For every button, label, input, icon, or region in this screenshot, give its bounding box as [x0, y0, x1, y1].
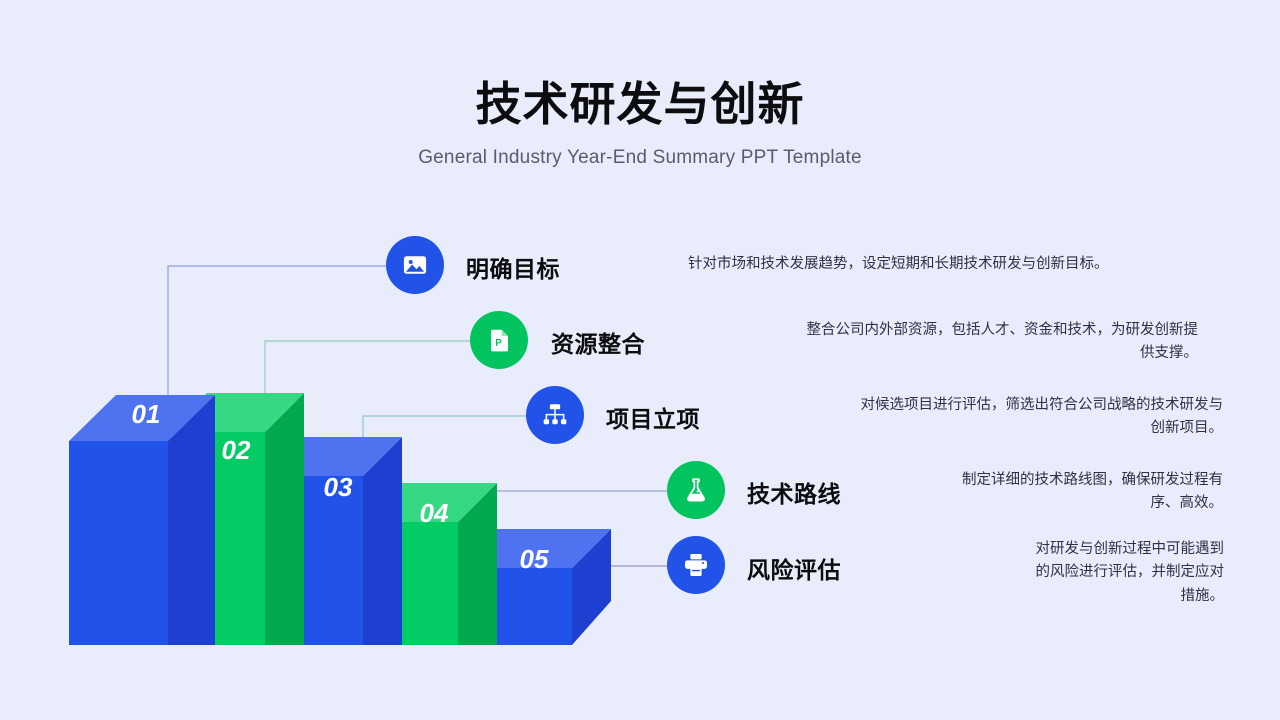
step-2-icon-badge[interactable]: P [470, 311, 528, 369]
flask-icon [682, 476, 710, 504]
step-3-description: 对候选项目进行评估，筛选出符合公司战略的技术研发与创新项目。 [848, 394, 1223, 441]
step-4-icon-badge[interactable] [667, 461, 725, 519]
step-2-description: 整合公司内外部资源，包括人才、资金和技术，为研发创新提供支撑。 [798, 319, 1198, 366]
block-05-number: 05 [520, 544, 549, 574]
step-2-label: 资源整合 [551, 325, 645, 359]
slide-canvas: 技术研发与创新 General Industry Year-End Summar… [0, 0, 1280, 720]
block-01-front [69, 441, 168, 645]
step-3-icon-badge[interactable] [526, 386, 584, 444]
step-4-label: 技术路线 [747, 475, 841, 509]
block-04-number: 04 [420, 498, 449, 528]
svg-text:P: P [495, 338, 502, 349]
sitemap-icon [541, 401, 569, 429]
step-5-label: 风险评估 [747, 551, 841, 585]
step-3-label: 项目立项 [606, 400, 700, 434]
block-02-side [265, 393, 304, 645]
step-5-icon-badge[interactable] [667, 536, 725, 594]
step-5-description: 对研发与创新过程中可能遇到的风险进行评估，并制定应对措施。 [1028, 538, 1224, 608]
step-1-label: 明确目标 [466, 250, 560, 284]
block-02-number: 02 [222, 435, 251, 465]
block-03-number: 03 [324, 472, 353, 502]
step-1-icon-badge[interactable] [386, 236, 444, 294]
step-block-01[interactable]: 01 [69, 395, 215, 645]
step-1-description: 针对市场和技术发展趋势，设定短期和长期技术研发与创新目标。 [688, 253, 1228, 276]
ppt-file-icon: P [485, 326, 513, 354]
printer-icon [682, 551, 710, 579]
step-4-description: 制定详细的技术路线图，确保研发过程有序、高效。 [948, 469, 1223, 516]
image-icon [401, 251, 429, 279]
block-01-number: 01 [132, 399, 161, 429]
